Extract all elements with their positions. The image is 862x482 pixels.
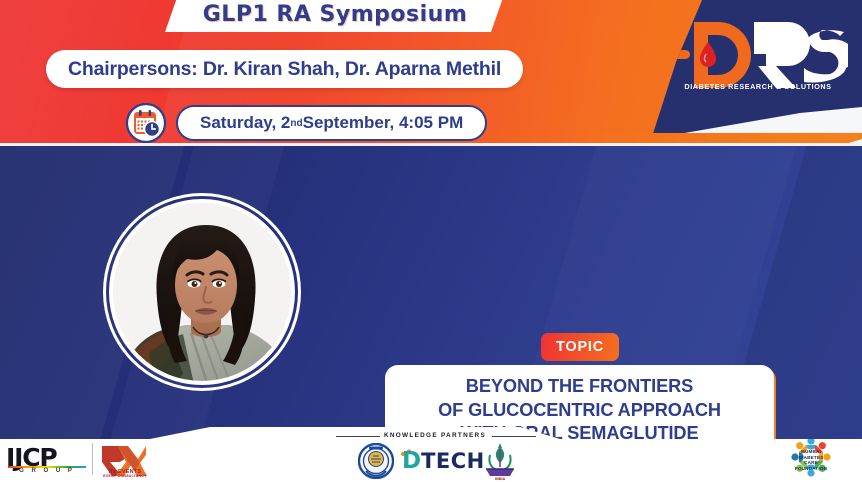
avatar-inner-ring [109,199,295,385]
partner-seal-icon-2: INDIA [480,441,520,481]
knowledge-partners-rule-right [492,436,536,437]
drs-logo-panel: DIABETES RESEARCH & SOLUTIONS [650,0,862,143]
date-rest: September, 4:05 PM [303,113,464,133]
drs-logo-mark [668,18,848,92]
mdcf-line-4: FOUNDATION [778,466,844,472]
date-ordinal-suffix: nd [290,118,302,129]
calendar-clock-icon [126,103,166,143]
chairpersons-pill: Chairpersons: Dr. Kiran Shah, Dr. Aparna… [46,50,523,88]
partner-seal-icon-1 [358,443,394,479]
dtech-wordmark: TECH [421,449,485,473]
date-time-pill: Saturday, 2nd September, 4:05 PM [176,105,487,141]
topic-line-2: OF GLUCOCENTRIC APPROACH [438,399,721,423]
topic-badge-label: TOPIC [556,339,604,355]
dtech-logo: DTECH [402,449,485,473]
rx-events-tagline: EVENT CONSULTANCY [98,474,152,478]
orange-accent-strip [592,133,862,143]
chairpersons-label: Chairpersons: Dr. Kiran Shah, Dr. Aparna… [68,58,501,81]
dtech-d-letter: D [402,448,421,474]
speaker-portrait-image [113,203,291,381]
ijcp-group-label: G R O U P [8,468,86,474]
speaker-avatar [103,193,301,391]
mdcf-caption: MUMBAI DIABETES CARE FOUNDATION [778,449,844,472]
footer-divider [92,443,93,475]
symposium-title: GLP1 RA Symposium [165,0,505,32]
drs-tagline: DIABETES RESEARCH & SOLUTIONS [668,82,848,91]
event-banner: GLP1 RA Symposium Chairpersons: Dr. Kira… [0,0,862,482]
topic-badge: TOPIC [541,333,619,361]
svg-text:INDIA: INDIA [495,477,506,481]
header-bar: GLP1 RA Symposium Chairpersons: Dr. Kira… [0,0,862,143]
topic-line-1: BEYOND THE FRONTIERS [466,375,693,399]
date-day: Saturday, 2 [200,113,290,133]
